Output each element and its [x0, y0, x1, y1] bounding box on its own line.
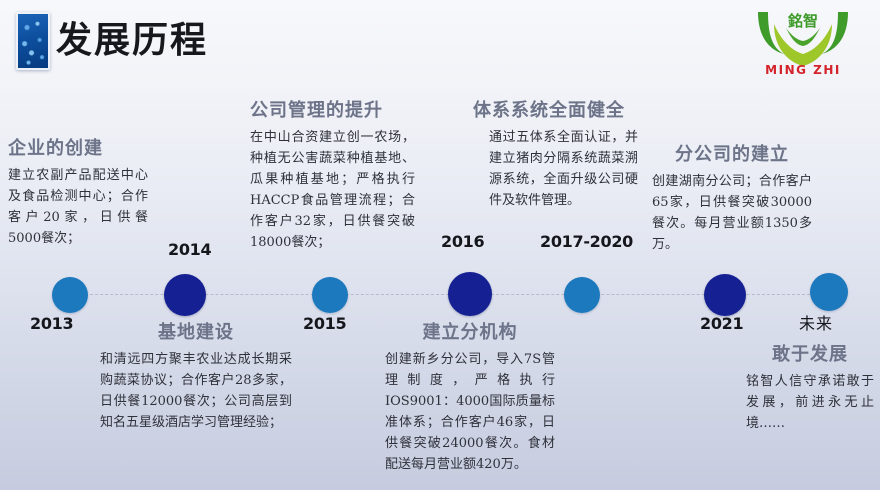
year-label-2016: 2016 [441, 232, 484, 251]
milestone-block-2016: 建立分机构 创建新乡分公司，导入7S管理制度，严格执行IOS9001：4000国… [385, 318, 555, 475]
milestone-heading-2013: 企业的创建 [8, 134, 148, 160]
timeline-node-future[interactable] [810, 273, 848, 311]
year-label-2021: 2021 [700, 314, 743, 333]
title-accent-bar-icon [16, 12, 50, 70]
milestone-block-2021: 分公司的建立 创建湖南分公司；合作客户65家，日供餐突破30000餐次。每月营业… [652, 140, 812, 255]
timeline-node-2016[interactable] [448, 272, 492, 316]
milestone-body-2017-2020: 通过五体系全面认证，并建立猪肉分隔系统蔬菜溯源系统，全面升级公司硬件及软件管理。 [473, 127, 638, 211]
milestone-heading-2016: 建立分机构 [385, 318, 555, 344]
milestone-block-future: 敢于发展 铭智人信守承诺敢于发展，前进永无止境…… [746, 340, 874, 434]
slide-canvas: 发展历程 銘智 MING ZHI 2013 2014 2015 2016 201… [0, 0, 880, 490]
timeline-node-2013[interactable] [52, 277, 88, 313]
svg-text:MING ZHI: MING ZHI [765, 63, 841, 76]
year-label-2013: 2013 [30, 314, 73, 333]
timeline-node-2014[interactable] [164, 274, 206, 316]
milestone-heading-2015: 公司管理的提升 [250, 96, 415, 122]
logo-mark-icon: 銘智 MING ZHI [744, 4, 862, 76]
timeline-node-2017-2020[interactable] [564, 277, 600, 313]
milestone-heading-2017-2020: 体系系统全面健全 [473, 96, 638, 122]
milestone-heading-2014: 基地建设 [100, 318, 292, 344]
svg-text:銘智: 銘智 [788, 12, 818, 30]
milestone-body-2015: 在中山合资建立创一农场，种植无公害蔬菜种植基地、瓜果种植基地；严格执行HACCP… [250, 127, 415, 253]
milestone-body-future: 铭智人信守承诺敢于发展，前进永无止境…… [746, 371, 874, 434]
milestone-block-2014: 基地建设 和清远四方聚丰农业达成长期采购蔬菜协议；合作客户28多家，日供餐120… [100, 318, 292, 433]
milestone-body-2021: 创建湖南分公司；合作客户65家，日供餐突破30000餐次。每月营业额1350多万… [652, 171, 812, 255]
milestone-body-2013: 建立农副产品配送中心及食品检测中心；合作客户20家，日供餐5000餐次； [8, 165, 148, 249]
milestone-body-2016: 创建新乡分公司，导入7S管理制度，严格执行IOS9001：4000国际质量标准体… [385, 349, 555, 475]
timeline-node-2015[interactable] [312, 277, 348, 313]
page-title: 发展历程 [56, 11, 208, 63]
year-label-future: 未来 [799, 310, 833, 334]
timeline-node-2021[interactable] [704, 274, 746, 316]
year-label-2015: 2015 [303, 314, 346, 333]
company-logo: 銘智 MING ZHI [744, 4, 862, 76]
milestone-heading-2021: 分公司的建立 [652, 140, 812, 166]
milestone-block-2013: 企业的创建 建立农副产品配送中心及食品检测中心；合作客户20家，日供餐5000餐… [8, 134, 148, 249]
milestone-block-2017-2020: 体系系统全面健全 通过五体系全面认证，并建立猪肉分隔系统蔬菜溯源系统，全面升级公… [473, 96, 638, 211]
milestone-heading-future: 敢于发展 [746, 340, 874, 366]
milestone-block-2015: 公司管理的提升 在中山合资建立创一农场，种植无公害蔬菜种植基地、瓜果种植基地；严… [250, 96, 415, 253]
year-label-2017-2020: 2017-2020 [540, 232, 633, 251]
milestone-body-2014: 和清远四方聚丰农业达成长期采购蔬菜协议；合作客户28多家，日供餐12000餐次；… [100, 349, 292, 433]
year-label-2014: 2014 [168, 240, 211, 259]
